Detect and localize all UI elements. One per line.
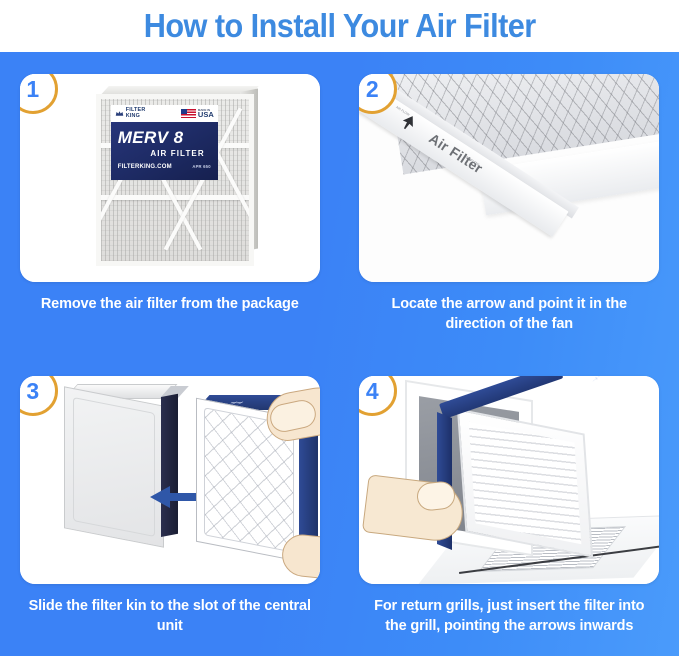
step-caption-2: Locate the arrow and point it in the dir… — [363, 295, 655, 334]
filter-corner-closeup: AIR FLOW Air Filter AIRFLOW — [359, 74, 659, 238]
steps-grid: FILTER KING — [0, 52, 679, 656]
product-type: AIR FILTER — [118, 149, 211, 158]
made-in-usa: MADE IN USA — [181, 109, 214, 118]
step-card-2: AIR FLOW Air Filter AIRFLOW 2 — [359, 74, 659, 282]
step-card-4: ➝➝ 4 — [359, 376, 659, 584]
grill-louvers — [469, 422, 582, 545]
brand-line-2: KING — [126, 114, 146, 120]
airflow-arrow-icon: ➝➝ — [590, 376, 606, 385]
label-main-panel: MERV 8 AIR FILTER FILTERKING.COM APR 650 — [111, 122, 218, 180]
step-caption-4: For return grills, just insert the filte… — [363, 597, 655, 636]
step-card-3: ➞➞ 3 — [20, 376, 320, 584]
label-top-row: FILTER KING — [111, 105, 218, 122]
product-label: FILTER KING — [111, 105, 218, 180]
step-2-image: AIR FLOW Air Filter AIRFLOW — [359, 74, 659, 282]
step-1-image: FILTER KING — [20, 74, 320, 282]
infographic-page: How to Install Your Air Filter — [0, 0, 679, 656]
usa-flag-icon — [181, 109, 196, 118]
brand-text: FILTER KING — [126, 108, 146, 119]
step-card-1: FILTER KING — [20, 74, 320, 282]
step-cell-1: FILTER KING — [0, 52, 340, 354]
unit-front-face — [64, 386, 164, 547]
step-caption-3: Slide the filter kin to the slot of the … — [24, 597, 316, 636]
unit-panel-outline — [73, 397, 155, 537]
step-number: 2 — [366, 76, 379, 103]
step-caption-1: Remove the air filter from the package — [24, 295, 316, 315]
unit-filter-slot — [161, 394, 178, 537]
step-number: 3 — [26, 378, 39, 405]
step-cell-4: ➝➝ 4 For return grills, just insert the … — [340, 354, 679, 656]
filter-king-logo: FILTER KING — [115, 108, 146, 119]
filter-front-face: FILTER KING — [96, 94, 254, 266]
country-text: USA — [198, 112, 214, 118]
step-cell-2: AIR FLOW Air Filter AIRFLOW 2 Locate the… — [340, 52, 679, 354]
label-bottom-row: FILTERKING.COM APR 650 — [118, 164, 211, 170]
apr-rating: APR 650 — [192, 164, 210, 169]
step-3-image: ➞➞ — [20, 376, 320, 584]
step-number: 4 — [366, 378, 379, 405]
website-text: FILTERKING.COM — [118, 164, 172, 170]
central-unit — [64, 388, 180, 540]
header: How to Install Your Air Filter — [0, 0, 679, 52]
page-title: How to Install Your Air Filter — [144, 7, 536, 45]
step-number: 1 — [26, 76, 39, 103]
crown-icon — [115, 109, 124, 118]
air-filter-product: FILTER KING — [92, 84, 258, 269]
step-4-image: ➝➝ — [359, 376, 659, 584]
merv-rating: MERV 8 — [118, 128, 211, 148]
step-cell-3: ➞➞ 3 Slide the filter kin — [0, 354, 340, 656]
